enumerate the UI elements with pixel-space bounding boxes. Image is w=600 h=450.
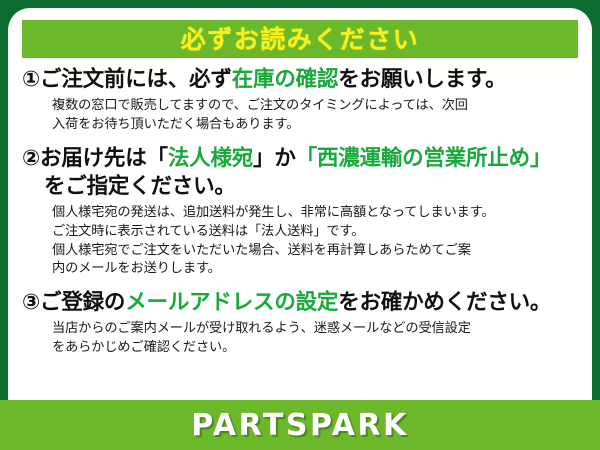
item-3-marker: ③ bbox=[22, 290, 40, 315]
item-1-heading-part-1: ご注文前には、必ず bbox=[40, 67, 232, 92]
item-3-description: 当店からのご案内メールが受け取れるよう、迷惑メールなどの受信設定 をあらかじめご… bbox=[8, 317, 592, 357]
item-1-heading: ①ご注文前には、必ず在庫の確認をお願いします。 bbox=[8, 66, 592, 94]
item-2-quote-close: 」 bbox=[253, 146, 274, 171]
list-item-1: ①ご注文前には、必ず在庫の確認をお願いします。 複数の窓口で販売してますので、ご… bbox=[8, 66, 592, 134]
item-1-description-line-1: 複数の窓口で販売してますので、ご注文のタイミングによっては、次回 bbox=[52, 97, 582, 116]
spacer-2 bbox=[8, 279, 592, 289]
item-1-marker: ① bbox=[22, 67, 40, 92]
item-1-heading-highlight: 在庫の確認 bbox=[232, 67, 339, 92]
item-3-heading-part-3: をお確かめください。 bbox=[338, 290, 551, 315]
item-2-marker: ② bbox=[22, 146, 40, 171]
item-2-quote-open: 「 bbox=[147, 146, 168, 171]
item-2-description-line-2: ご注文時に表示されている送料は「法人送料」です。 bbox=[52, 223, 582, 242]
list-item-3: ③ご登録のメールアドレスの設定をお確かめください。 当店からのご案内メールが受け… bbox=[8, 289, 592, 357]
item-3-heading: ③ご登録のメールアドレスの設定をお確かめください。 bbox=[8, 289, 592, 317]
brand-logo: PARTSPARK bbox=[191, 408, 409, 443]
item-2-heading-part-1: お届け先は bbox=[40, 146, 147, 171]
item-2-description-line-1: 個人様宅宛の発送は、追加送料が発生し、非常に高額となってしまいます。 bbox=[52, 204, 582, 223]
item-1-description-line-2: 入荷をお待ち頂いただく場合もあります。 bbox=[52, 116, 582, 135]
item-1-description: 複数の窓口で販売してますので、ご注文のタイミングによっては、次回 入荷をお待ち頂… bbox=[8, 94, 592, 134]
item-3-description-line-2: をあらかじめご確認ください。 bbox=[52, 339, 582, 358]
item-2-description-line-3: 個人様宅宛でご注文をいただいた場合、送料を再計算しあらためてご案 bbox=[52, 242, 582, 261]
spacer-1 bbox=[8, 134, 592, 145]
list-item-2: ②お届け先は「法人様宛」か「西濃運輸の営業所止め」 をご指定ください。 個人様宅… bbox=[8, 145, 592, 279]
notice-list: ①ご注文前には、必ず在庫の確認をお願いします。 複数の窓口で販売してますので、ご… bbox=[8, 66, 592, 358]
white-panel: 必ずお読みください ①ご注文前には、必ず在庫の確認をお願いします。 複数の窓口で… bbox=[8, 8, 592, 408]
notice-banner: 必ずお読みください ①ご注文前には、必ず在庫の確認をお願いします。 複数の窓口で… bbox=[0, 0, 600, 450]
item-2-heading-highlight-2: 「西濃運輸の営業所止め」 bbox=[296, 146, 552, 171]
item-1-heading-part-3: をお願いします。 bbox=[338, 67, 506, 92]
item-3-description-line-1: 当店からのご案内メールが受け取れるよう、迷惑メールなどの受信設定 bbox=[52, 320, 582, 339]
title-bar: 必ずお読みください bbox=[22, 20, 578, 58]
footer-bar: PARTSPARK bbox=[0, 400, 600, 450]
item-2-heading-highlight-1: 法人様宛 bbox=[168, 146, 253, 171]
item-3-heading-part-1: ご登録の bbox=[40, 290, 125, 315]
item-2-description: 個人様宅宛の発送は、追加送料が発生し、非常に高額となってしまいます。 ご注文時に… bbox=[8, 201, 592, 279]
item-2-heading: ②お届け先は「法人様宛」か「西濃運輸の営業所止め」 bbox=[8, 145, 592, 173]
item-3-heading-highlight: メールアドレスの設定 bbox=[125, 290, 338, 315]
item-2-description-line-4: 内のメールをお送りします。 bbox=[52, 260, 582, 279]
item-2-conjunction: か bbox=[274, 146, 295, 171]
page-title: 必ずお読みください bbox=[181, 27, 420, 52]
item-2-heading-line-2: をご指定ください。 bbox=[8, 173, 592, 201]
